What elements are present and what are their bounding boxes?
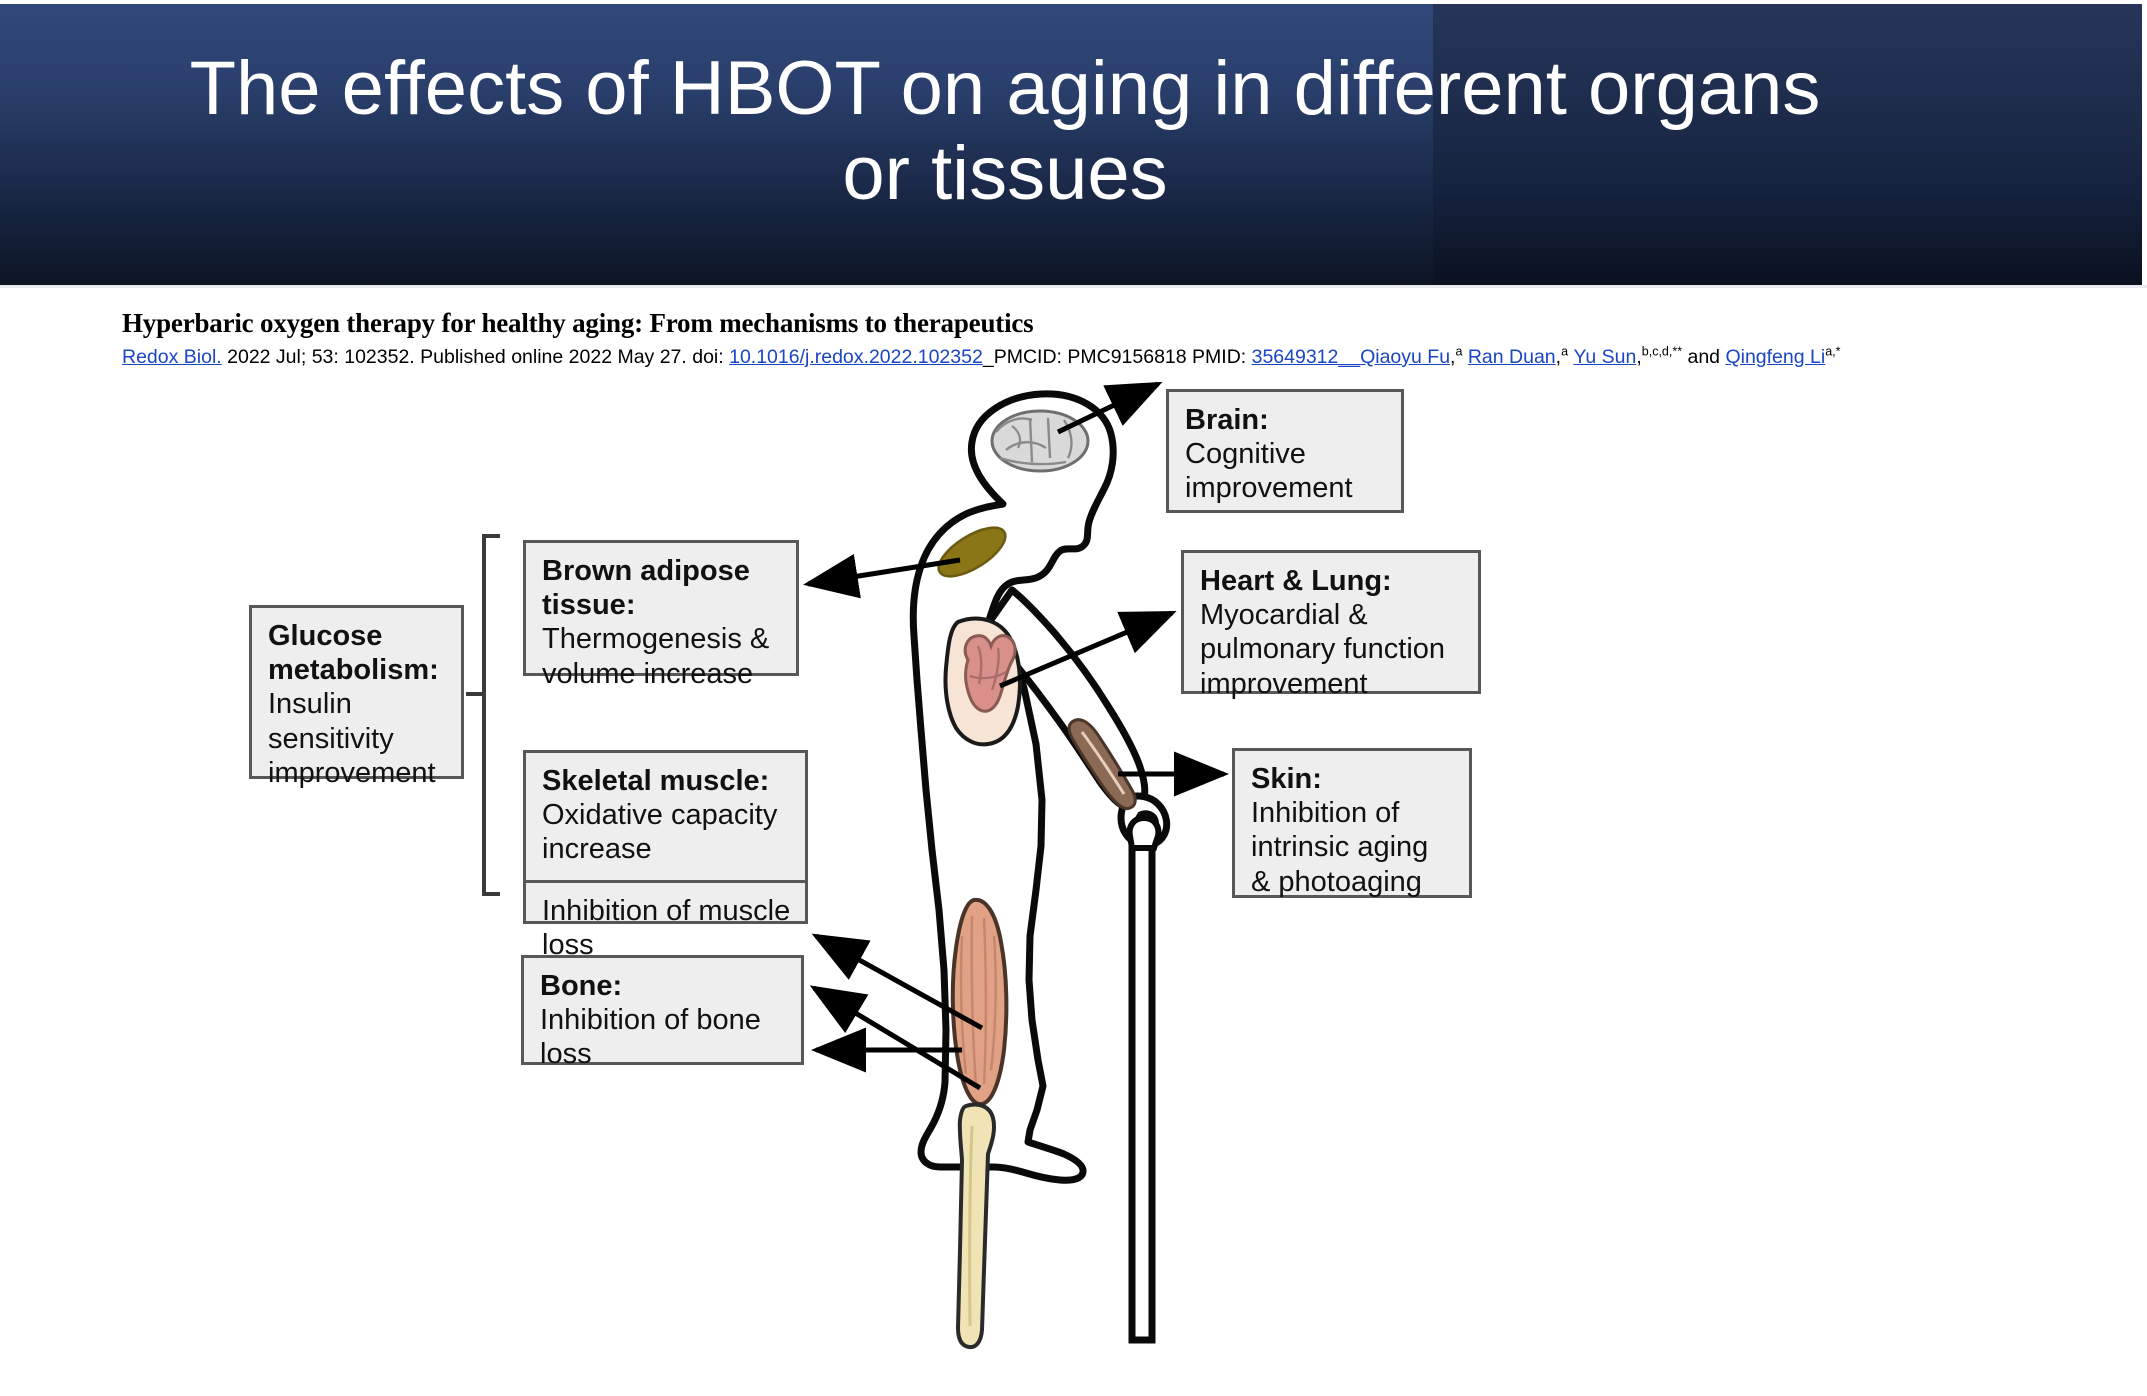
slide-title-banner: The effects of HBOT on aging in differen…	[0, 0, 2147, 288]
heart-lung-box-heading: Heart & Lung:	[1200, 564, 1464, 598]
brain-box-body: Cognitive improvement	[1185, 437, 1387, 505]
brown-adipose-box-body: Thermogenesis & volume increase	[542, 622, 782, 690]
skeletal-box-body-2: Inhibition of muscle loss	[542, 894, 791, 962]
body-silhouette	[913, 394, 1113, 1180]
info-box-skin: Skin: Inhibition of intrinsic aging & ph…	[1232, 748, 1472, 898]
info-box-heart-lung: Heart & Lung: Myocardial & pulmonary fun…	[1181, 550, 1481, 694]
glucose-box-body: Insulin sensitivity improvement	[268, 687, 447, 790]
author-affiliation-4: a,*	[1825, 345, 1840, 359]
citation-block: Hyperbaric oxygen therapy for healthy ag…	[122, 308, 2022, 369]
doi-trailing-underscore: _	[983, 346, 994, 368]
author-affiliation-2: a	[1561, 345, 1568, 359]
skin-box-heading: Skin:	[1251, 762, 1455, 796]
issue-text: 2022 Jul; 53: 102352. Published online 2…	[222, 346, 729, 368]
walking-cane	[1130, 818, 1159, 1340]
article-title: Hyperbaric oxygen therapy for healthy ag…	[122, 308, 2022, 339]
author-link-3[interactable]: Yu Sun	[1573, 346, 1636, 368]
info-box-brain: Brain: Cognitive improvement	[1166, 389, 1404, 513]
author-link-4[interactable]: Qingfeng Li	[1725, 346, 1825, 368]
banner-bottom-edge	[0, 285, 2147, 288]
author-link-1[interactable]: Qiaoyu Fu	[1360, 346, 1450, 368]
brown-adipose-box-heading: Brown adipose tissue:	[542, 554, 782, 622]
brain-icon	[992, 411, 1088, 471]
author-affiliation-3: b,c,d,**	[1642, 345, 1682, 359]
bone-icon	[958, 1105, 994, 1348]
banner-right-edge	[2142, 0, 2147, 288]
skeletal-box-heading: Skeletal muscle:	[542, 764, 791, 798]
pmid-link[interactable]: 35649312	[1252, 346, 1339, 368]
doi-link[interactable]: 10.1016/j.redox.2022.102352	[729, 346, 983, 368]
citation-line: Redox Biol. 2022 Jul; 53: 102352. Publis…	[122, 345, 2022, 369]
author-conjunction: and	[1682, 346, 1725, 368]
anatomy-illustration	[0, 370, 2147, 1396]
human-figure	[913, 394, 1166, 1347]
bone-box-body: Inhibition of bone loss	[540, 1003, 787, 1071]
info-box-bone: Bone: Inhibition of bone loss	[521, 955, 804, 1065]
glucose-grouping-bracket	[466, 536, 500, 894]
author-link-2[interactable]: Ran Duan	[1468, 346, 1556, 368]
pmcid-text: PMCID: PMC9156818 PMID:	[994, 346, 1252, 368]
info-box-brown-adipose-tissue: Brown adipose tissue: Thermogenesis & vo…	[523, 540, 799, 676]
skin-box-body: Inhibition of intrinsic aging & photoagi…	[1251, 796, 1455, 899]
journal-link[interactable]: Redox Biol.	[122, 346, 222, 368]
info-box-skeletal-muscle: Skeletal muscle: Oxidative capacity incr…	[523, 750, 808, 924]
glucose-box-heading: Glucose metabolism:	[268, 619, 447, 687]
page-title: The effects of HBOT on aging in differen…	[0, 0, 2010, 216]
bone-box-heading: Bone:	[540, 969, 787, 1003]
info-box-glucose-metabolism: Glucose metabolism: Insulin sensitivity …	[249, 605, 464, 779]
brain-box-heading: Brain:	[1185, 403, 1387, 437]
skeletal-box-body: Oxidative capacity increase	[542, 798, 791, 866]
figure-diagram: Brain: Cognitive improvement Heart & Lun…	[0, 370, 2147, 1396]
heart-lung-box-body: Myocardial & pulmonary function improvem…	[1200, 598, 1464, 701]
authors-separator: __	[1338, 346, 1360, 368]
